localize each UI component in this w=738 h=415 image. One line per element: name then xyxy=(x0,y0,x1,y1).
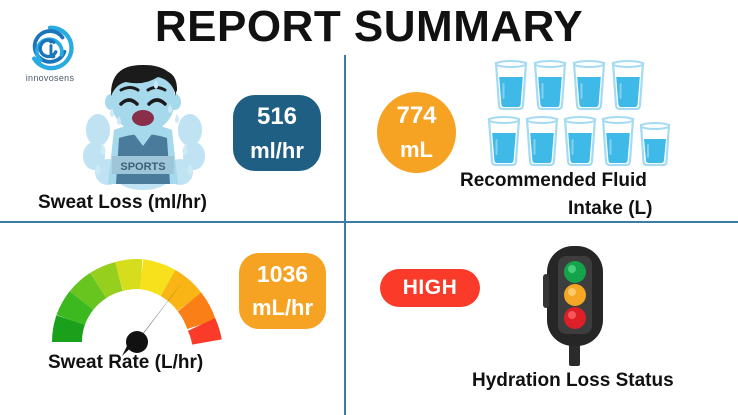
vertical-divider xyxy=(344,55,346,415)
fluid-intake-unit: mL xyxy=(400,139,433,161)
sweat-rate-value: 1036 xyxy=(257,263,308,286)
traffic-light-red xyxy=(564,307,586,329)
water-glasses-icon xyxy=(487,60,687,172)
traffic-light-icon xyxy=(539,244,611,366)
page-title: REPORT SUMMARY xyxy=(0,2,738,52)
glasses-top-row xyxy=(496,61,643,109)
sweat-rate-unit: mL/hr xyxy=(252,297,313,319)
fluid-intake-value-badge: 774 mL xyxy=(377,92,456,173)
sweat-rate-value-badge: 1036 mL/hr xyxy=(239,253,326,329)
traffic-light-amber xyxy=(564,284,586,306)
fluid-intake-label-line1: Recommended Fluid xyxy=(460,170,647,192)
shirt-text: SPORTS xyxy=(120,161,165,173)
sweat-rate-label: Sweat Rate (L/hr) xyxy=(48,352,203,374)
hydration-status-badge: HIGH xyxy=(380,269,480,307)
innovosens-swirl-icon xyxy=(26,24,74,72)
sweat-loss-value: 516 xyxy=(257,105,297,129)
brand-logo: innovosens xyxy=(14,24,86,83)
fluid-intake-label-line2: Intake (L) xyxy=(568,198,652,220)
sweat-loss-unit: ml/hr xyxy=(250,140,304,162)
brand-name: innovosens xyxy=(14,73,86,83)
sweat-loss-value-badge: 516 ml/hr xyxy=(233,95,321,171)
hydration-status-label: Hydration Loss Status xyxy=(472,370,674,392)
traffic-light-green xyxy=(564,261,586,283)
horizontal-divider xyxy=(0,221,738,223)
sweating-athlete-icon: SPORTS xyxy=(78,52,208,190)
sweat-loss-label: Sweat Loss (ml/hr) xyxy=(38,192,207,214)
report-summary-page: REPORT SUMMARY innovosens xyxy=(0,0,738,415)
fluid-intake-value: 774 xyxy=(396,104,436,128)
glasses-bottom-row xyxy=(489,117,669,165)
gauge-meter-icon xyxy=(42,232,232,360)
